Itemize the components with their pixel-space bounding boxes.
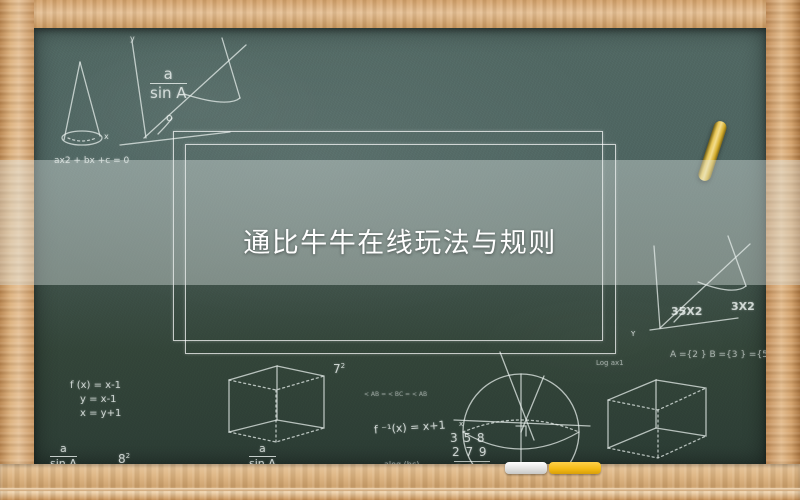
chalk-axis-y-label: y — [130, 34, 135, 43]
page-title: 通比牛牛在线玩法与规则 — [0, 178, 800, 303]
chalk-function-line-3: x = y+1 — [80, 408, 121, 420]
chalk-angle-ratio-note: < AB = < BC = < AB — [364, 392, 427, 399]
chalk-fraction-a-sina-center: a sin A — [249, 443, 276, 464]
frame-top-rail — [0, 0, 800, 28]
yellow-chalk-icon — [549, 462, 601, 474]
ledge-lip — [0, 488, 800, 491]
chalk-function-line-1: f (x) = x-1 — [70, 380, 121, 392]
chalk-axis-y-right: Y — [631, 330, 635, 338]
chalk-division-row-1: 3 5 8 — [450, 432, 486, 446]
chalk-division-x: x — [459, 420, 463, 428]
chalk-set-notation: A ={2 } B ={3 } ={5 } — [670, 350, 766, 360]
chalkboard-banner-image: a sin A y x o ax2 + bx +c = 0 35X2 3X2 Y… — [0, 0, 800, 500]
chalk-fraction-a-sina-left: a sin A — [50, 443, 77, 464]
chalk-seven-squared: 72 — [333, 362, 345, 377]
chalk-fraction-a-sina: a sin A — [150, 66, 187, 103]
chalk-log-label: Log ax1 — [596, 359, 624, 367]
white-chalk-icon — [505, 462, 547, 474]
chalk-angle-label: o — [166, 112, 173, 125]
chalk-axis-x-label: x — [104, 132, 109, 141]
chalk-eight-squared: 82 — [118, 452, 130, 464]
chalk-ledge — [0, 464, 800, 500]
chalk-mult-35x2: 35X2 — [671, 306, 702, 319]
chalk-division-row-2: 2 7 9 — [452, 446, 488, 460]
chalk-function-line-2: y = x-1 — [80, 394, 117, 406]
